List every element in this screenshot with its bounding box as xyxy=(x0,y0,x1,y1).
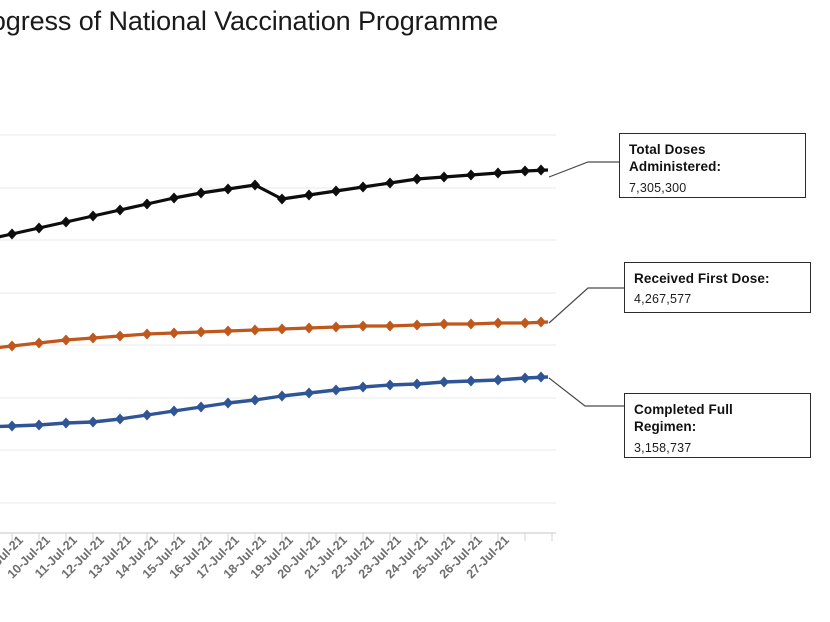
callout-value: 7,305,300 xyxy=(629,179,805,197)
callout-completed-full-regimen: Completed Full Regimen: 3,158,737 xyxy=(624,393,811,458)
callout-title-line2: Regimen: xyxy=(634,418,810,435)
callout-received-first-dose: Received First Dose: 4,267,577 xyxy=(624,262,811,313)
callout-title-line1: Total Doses xyxy=(629,141,805,158)
series-completed-full-regimen xyxy=(0,372,548,432)
plot-area: 9-Jul-21 10-Jul-21 11-Jul-21 12-Jul-21 1… xyxy=(0,0,600,560)
series-received-first-dose xyxy=(0,317,548,352)
callout-title-line2: Administered: xyxy=(629,158,805,175)
callout-value: 3,158,737 xyxy=(634,439,810,457)
series-total-doses xyxy=(0,165,548,241)
chart-screenshot: rogress of National Vaccination Programm… xyxy=(0,0,830,622)
callout-title-line1: Received First Dose: xyxy=(634,270,810,287)
gridlines xyxy=(0,135,556,503)
x-axis-tick-labels: 9-Jul-21 10-Jul-21 11-Jul-21 12-Jul-21 1… xyxy=(0,533,600,622)
callout-title-line1: Completed Full xyxy=(634,401,810,418)
callout-value: 4,267,577 xyxy=(634,290,810,308)
callout-total-doses: Total Doses Administered: 7,305,300 xyxy=(619,133,806,198)
chart-canvas xyxy=(0,0,600,560)
